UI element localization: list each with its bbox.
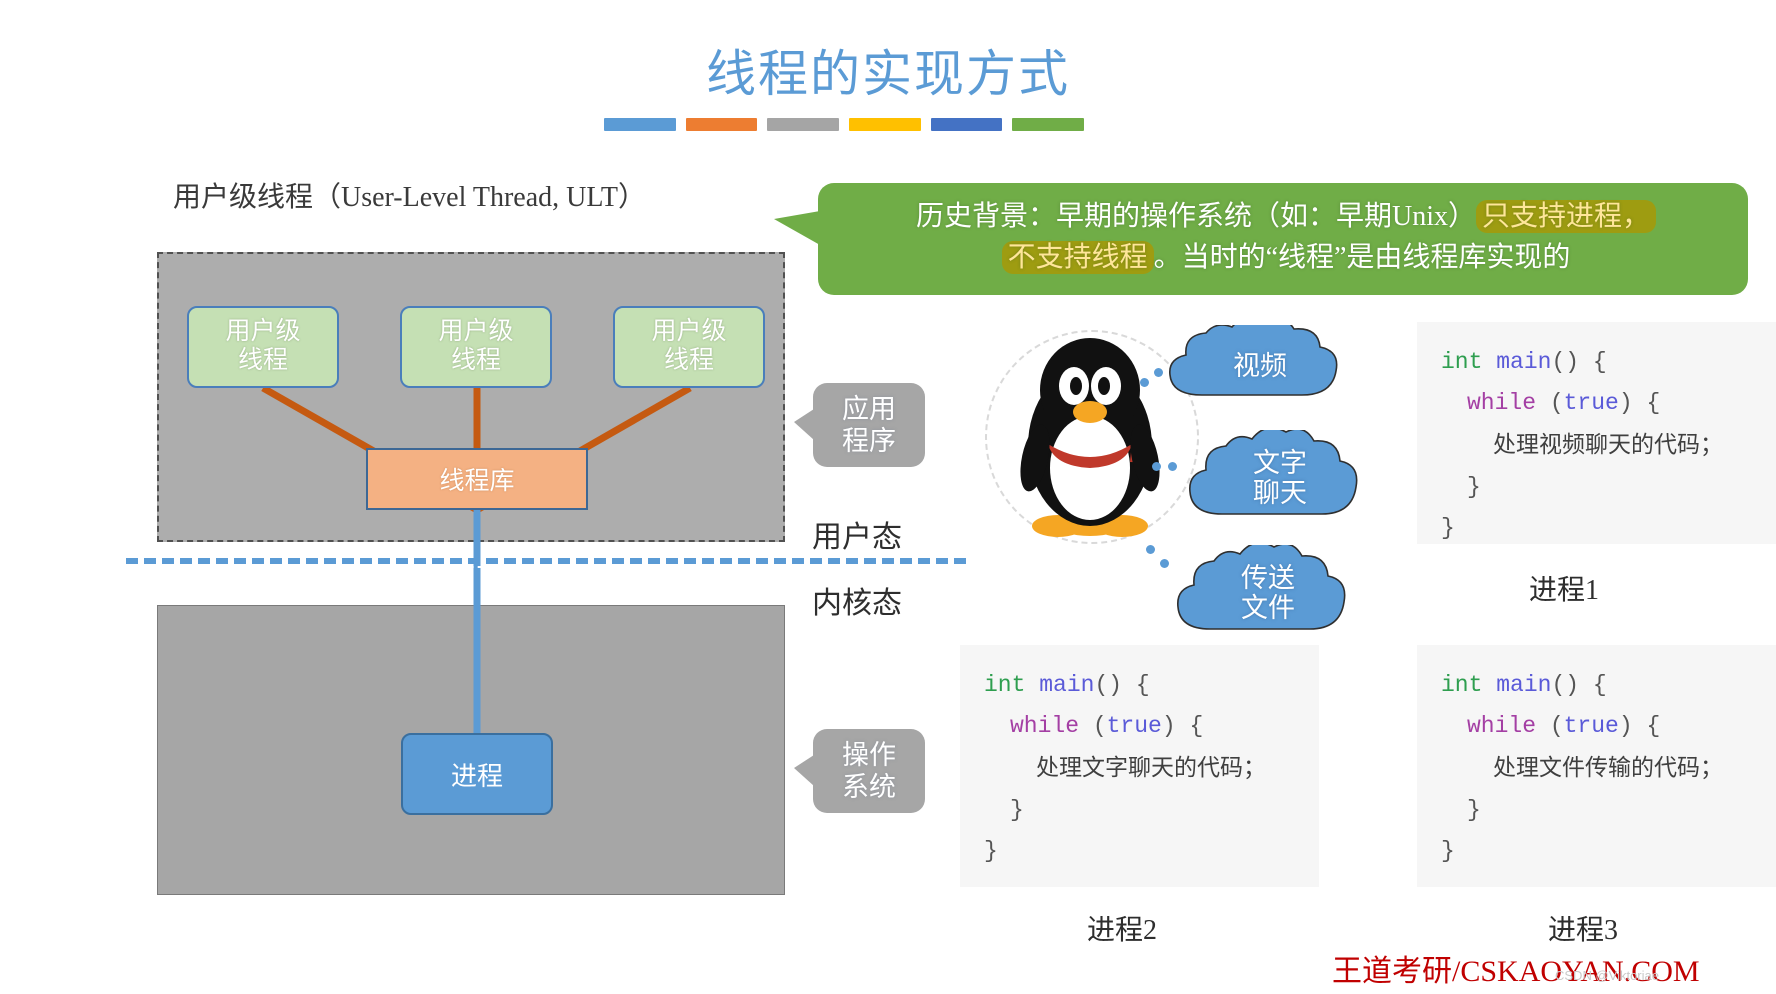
bar-green xyxy=(1012,118,1084,131)
code-token: } xyxy=(984,838,998,864)
code-line: int main() { xyxy=(1417,342,1776,383)
code-line: while (true) { xyxy=(1417,383,1776,424)
code-token: main xyxy=(1496,349,1551,375)
ult-box-1-line2: 线程 xyxy=(238,347,288,376)
cloud-video: 视频 xyxy=(1160,325,1360,407)
code-token: } xyxy=(1441,515,1455,541)
code-line: 处理文件传输的代码； xyxy=(1417,747,1776,790)
footer-watermark: CSDN @Viktoriae xyxy=(1555,968,1659,983)
callout-tail-icon xyxy=(794,409,814,440)
ult-box-2-line1: 用户级 xyxy=(438,318,513,347)
code-block-file: int main() {while (true) {处理文件传输的代码；}} xyxy=(1417,645,1776,887)
operating-system-callout: 操作 系统 xyxy=(813,729,925,813)
code-token: while xyxy=(1010,713,1079,739)
code-token: ( xyxy=(1536,713,1564,739)
code-token: while xyxy=(1467,390,1536,416)
bar-orange xyxy=(686,118,758,131)
code-token: } xyxy=(1010,797,1024,823)
history-background-callout: 历史背景：早期的操作系统（如：早期Unix）只支持进程，不支持线程。当时的“线程… xyxy=(818,183,1748,295)
cloud-file-line2: 文件 xyxy=(1241,593,1295,623)
history-highlight-1: 只支持进程， xyxy=(1476,200,1656,233)
cloud-file-transfer: 传送 文件 xyxy=(1168,545,1368,641)
cloud-text-line1: 文字 xyxy=(1253,448,1307,478)
ult-box-1: 用户级 线程 xyxy=(187,306,339,388)
code-token: } xyxy=(1441,838,1455,864)
application-program-callout: 应用 程序 xyxy=(813,383,925,467)
code-line: 处理视频聊天的代码； xyxy=(1417,424,1776,467)
code-token xyxy=(1482,672,1496,698)
code-token: while xyxy=(1467,713,1536,739)
code-token: true xyxy=(1107,713,1162,739)
os-callout-line1: 操作 xyxy=(842,739,896,771)
code-token: 处理文件传输的代码； xyxy=(1493,755,1723,780)
code-token: main xyxy=(1496,672,1551,698)
cloud-text-line2: 聊天 xyxy=(1253,478,1307,508)
app-callout-line2: 程序 xyxy=(842,425,896,457)
code-token: true xyxy=(1564,390,1619,416)
ult-box-2-line2: 线程 xyxy=(451,347,501,376)
slide-canvas: 线程的实现方式 用户级线程（User-Level Thread, ULT） 用户… xyxy=(0,0,1776,994)
bar-yellow xyxy=(849,118,921,131)
code-token: main xyxy=(1039,672,1094,698)
code-line: } xyxy=(1417,790,1776,831)
process-label-1: 进程1 xyxy=(1529,568,1599,608)
cloud-video-line1: 视频 xyxy=(1233,351,1287,381)
app-callout-line1: 应用 xyxy=(842,393,896,425)
code-line: } xyxy=(960,790,1319,831)
cloud-text-chat: 文字 聊天 xyxy=(1180,430,1380,526)
code-token xyxy=(1482,349,1496,375)
code-block-video: int main() {while (true) {处理视频聊天的代码；}} xyxy=(1417,322,1776,544)
process-box: 进程 xyxy=(401,733,553,815)
ult-box-1-line1: 用户级 xyxy=(225,318,300,347)
ult-box-3: 用户级 线程 xyxy=(613,306,765,388)
ult-box-3-line1: 用户级 xyxy=(651,318,726,347)
code-token: ) { xyxy=(1619,390,1660,416)
thread-library-label: 线程库 xyxy=(439,461,514,497)
title-decoration-bars xyxy=(604,118,1084,131)
history-text-part1: 历史背景：早期的操作系统（如：早期Unix） xyxy=(916,201,1476,232)
callout-tail-icon xyxy=(794,755,814,786)
code-line: 处理文字聊天的代码； xyxy=(960,747,1319,790)
process-label-3: 进程3 xyxy=(1548,908,1618,948)
code-token: ) { xyxy=(1619,713,1660,739)
code-token: () { xyxy=(1551,672,1606,698)
code-line: } xyxy=(1417,467,1776,508)
code-line: } xyxy=(1417,508,1776,549)
code-token: 处理文字聊天的代码； xyxy=(1036,755,1266,780)
history-highlight-2: 不支持线程 xyxy=(1002,241,1154,274)
bar-blue xyxy=(604,118,676,131)
code-token: ) { xyxy=(1162,713,1203,739)
code-token: () { xyxy=(1094,672,1149,698)
bar-darkblue xyxy=(931,118,1003,131)
ult-heading: 用户级线程（User-Level Thread, ULT） xyxy=(173,175,646,215)
code-line: while (true) { xyxy=(1417,706,1776,747)
code-token: 处理视频聊天的代码； xyxy=(1493,432,1723,457)
cloud-file-line1: 传送 xyxy=(1241,563,1295,593)
ult-box-3-line2: 线程 xyxy=(664,347,714,376)
thread-library-box: 线程库 xyxy=(366,448,588,510)
process-box-label: 进程 xyxy=(451,756,503,793)
kernel-mode-label: 内核态 xyxy=(812,578,902,622)
code-line: while (true) { xyxy=(960,706,1319,747)
code-token xyxy=(1025,672,1039,698)
code-line: } xyxy=(1417,831,1776,872)
user-kernel-boundary-divider xyxy=(126,558,966,564)
code-token: } xyxy=(1467,797,1481,823)
process-label-2: 进程2 xyxy=(1087,908,1157,948)
code-token: } xyxy=(1467,474,1481,500)
speech-bubble-tail-icon xyxy=(774,211,820,245)
code-token: ( xyxy=(1079,713,1107,739)
code-token: int xyxy=(984,672,1025,698)
code-line: } xyxy=(960,831,1319,872)
code-block-text: int main() {while (true) {处理文字聊天的代码；}} xyxy=(960,645,1319,887)
os-callout-line2: 系统 xyxy=(842,771,896,803)
code-token: true xyxy=(1564,713,1619,739)
code-token: int xyxy=(1441,672,1482,698)
code-token: () { xyxy=(1551,349,1606,375)
code-line: int main() { xyxy=(960,665,1319,706)
user-mode-label: 用户态 xyxy=(812,512,902,556)
page-title: 线程的实现方式 xyxy=(0,34,1776,106)
code-token: int xyxy=(1441,349,1482,375)
bar-gray xyxy=(767,118,839,131)
code-token: ( xyxy=(1536,390,1564,416)
code-line: int main() { xyxy=(1417,665,1776,706)
ult-box-2: 用户级 线程 xyxy=(400,306,552,388)
history-text-part2: 。当时的“线程”是由线程库实现的 xyxy=(1154,242,1571,273)
